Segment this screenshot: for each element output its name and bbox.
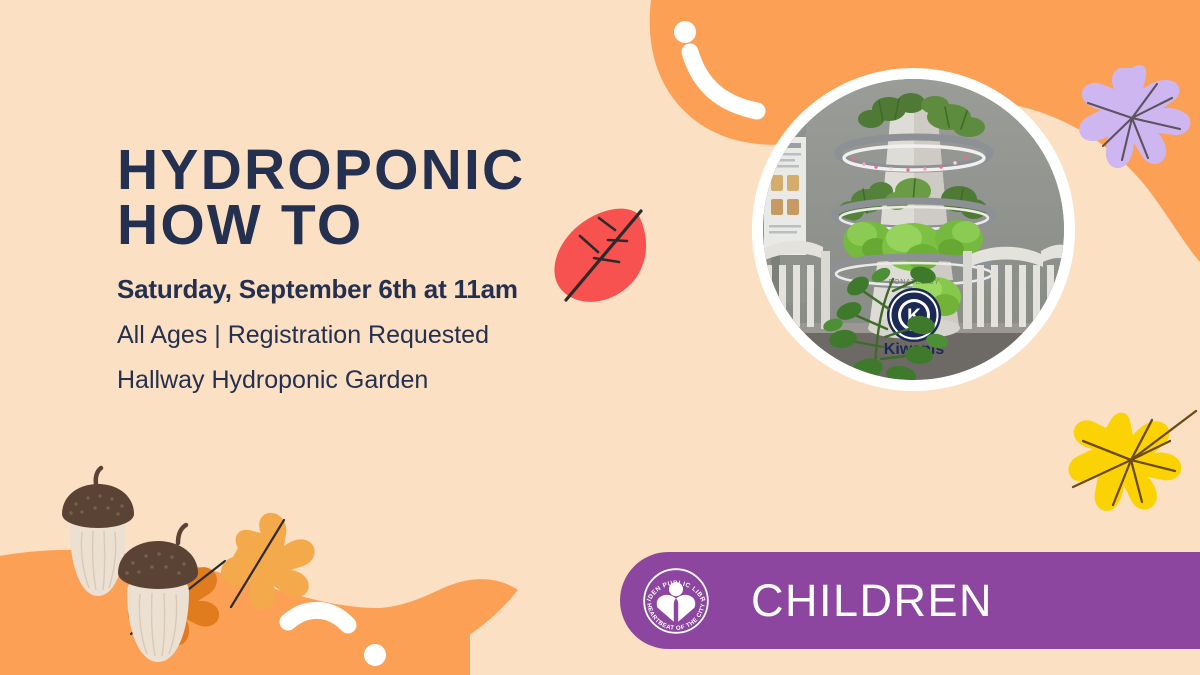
event-text-block: HYDROPONIC HOW TO Saturday, September 6t… (117, 143, 637, 395)
category-label: CHILDREN (751, 575, 993, 627)
headline-line-1: HYDROPONIC (117, 143, 637, 198)
white-dot-bottom-icon (364, 644, 386, 666)
hydroponic-tower-illustration: DONATED BY K Kiwanis (763, 79, 1064, 380)
event-datetime: Saturday, September 6th at 11am (117, 274, 637, 305)
yellow-maple-leaf-icon (1068, 411, 1196, 511)
event-audience-registration: All Ages | Registration Requested (117, 321, 637, 350)
event-photo-inner: DONATED BY K Kiwanis (763, 79, 1064, 380)
page-title: HYDROPONIC HOW TO (117, 143, 637, 252)
category-banner: MERIDEN PUBLIC LIBRARY HEARTBEAT OF THE … (620, 552, 1200, 649)
svg-text:HEARTBEAT OF THE CITY: HEARTBEAT OF THE CITY (645, 602, 707, 631)
event-location: Hallway Hydroponic Garden (117, 366, 637, 395)
event-poster: HYDROPONIC HOW TO Saturday, September 6t… (0, 0, 1200, 675)
logo-arc-bottom-text: HEARTBEAT OF THE CITY (645, 602, 707, 631)
white-dot-top-icon (674, 21, 696, 43)
library-logo-icon: MERIDEN PUBLIC LIBRARY HEARTBEAT OF THE … (639, 564, 713, 638)
event-photo: DONATED BY K Kiwanis (752, 68, 1075, 391)
headline-line-2: HOW TO (117, 198, 637, 253)
